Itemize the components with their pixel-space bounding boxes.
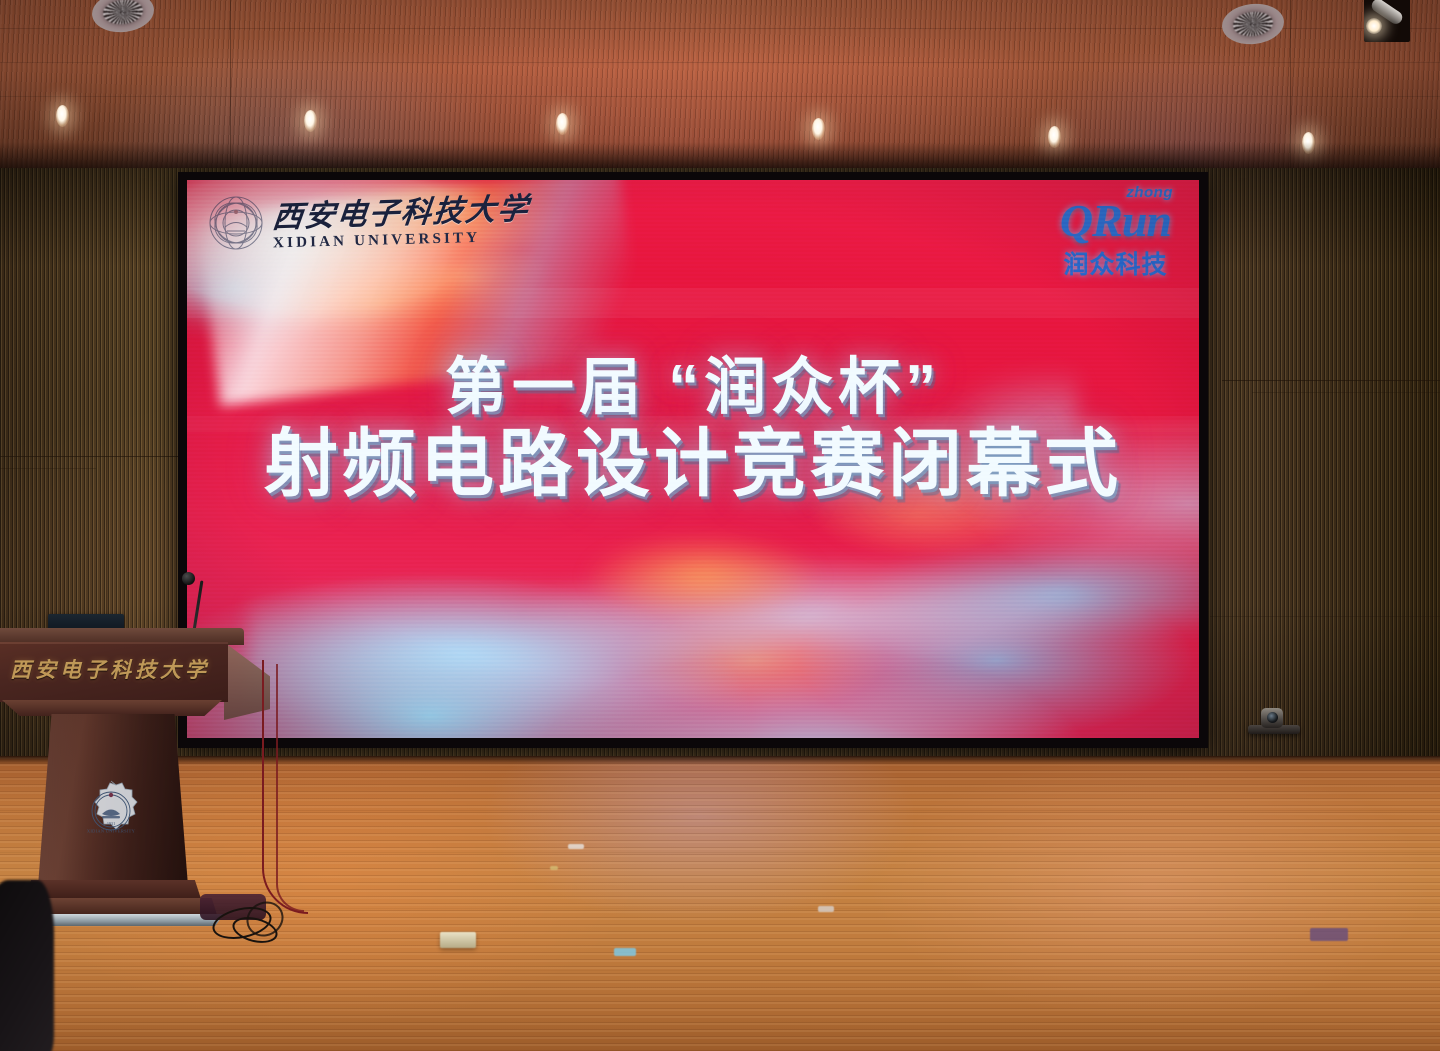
led-screen-bezel: 西安电子科技大学 XIDIAN UNIVERSITY QRun zhong 润众… <box>178 172 1208 748</box>
auditorium-stage-photo: 西安电子科技大学 XIDIAN UNIVERSITY QRun zhong 润众… <box>0 0 1440 1051</box>
ceiling-spotlight-slot <box>1364 0 1410 42</box>
floor-debris <box>614 948 636 956</box>
ceiling-downlight <box>56 105 69 127</box>
xidian-crest-icon: 1931 XIDIAN UNIVERSITY <box>80 780 142 842</box>
microphone-icon <box>182 572 195 585</box>
microphone-cable <box>276 664 304 912</box>
svg-text:1931: 1931 <box>107 821 115 826</box>
ceiling-downlight <box>812 118 825 140</box>
podium-bevel <box>2 700 222 716</box>
floor-tape-marker <box>1310 928 1348 941</box>
ceiling-downlight <box>304 110 317 132</box>
foreground-object <box>0 880 54 1051</box>
ptz-camera <box>1248 708 1300 734</box>
ceiling-downlight <box>556 113 569 135</box>
screen-vignette <box>187 180 1199 738</box>
floor-debris <box>550 866 558 870</box>
led-screen: 西安电子科技大学 XIDIAN UNIVERSITY QRun zhong 润众… <box>187 180 1199 738</box>
ceiling <box>0 0 1440 176</box>
floor-outlet-box <box>440 932 476 948</box>
floor-debris <box>568 844 584 849</box>
floor-debris <box>818 906 834 912</box>
svg-text:XIDIAN UNIVERSITY: XIDIAN UNIVERSITY <box>87 829 136 834</box>
podium-nameplate: 西安电子科技大学 <box>10 654 210 684</box>
